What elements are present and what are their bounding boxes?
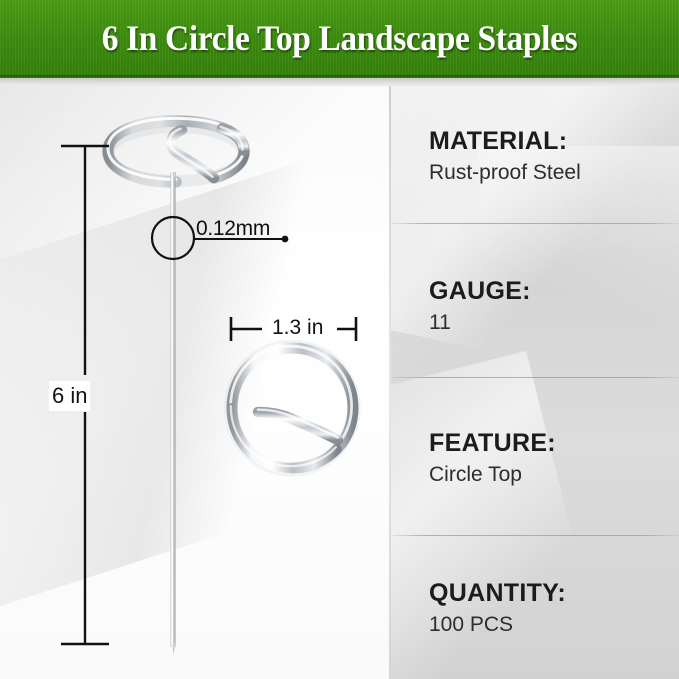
dimension-label-length: 6 in (49, 381, 90, 411)
spec-label: FEATURE: (429, 430, 669, 456)
spec-label: MATERIAL: (429, 128, 669, 154)
spec-row-feature: FEATURE: Circle Top (429, 430, 669, 486)
spec-value: 100 PCS (429, 613, 669, 636)
spec-value: Circle Top (429, 463, 669, 486)
spec-row-gauge: GAUGE: 11 (429, 278, 669, 334)
panel-sheen-right (479, 146, 679, 406)
background-streak (0, 134, 389, 609)
spec-value: Rust-proof Steel (429, 161, 669, 184)
spec-label: QUANTITY: (429, 580, 669, 606)
spec-panel: MATERIAL: Rust-proof Steel GAUGE: 11 FEA… (391, 86, 679, 679)
spec-label: GAUGE: (429, 278, 669, 304)
spec-divider-3 (391, 535, 679, 536)
header-banner: 6 In Circle Top Landscape Staples (0, 0, 679, 78)
dimension-label-wire-thickness: 0.12mm (196, 217, 270, 241)
spec-divider-2 (391, 377, 679, 378)
spec-divider-1 (391, 223, 679, 224)
page-title: 6 In Circle Top Landscape Staples (24, 17, 655, 59)
dimension-label-circle-width: 1.3 in (268, 316, 327, 340)
spec-value: 11 (429, 311, 669, 334)
spec-row-quantity: QUANTITY: 100 PCS (429, 580, 669, 636)
product-infographic: 6 In Circle Top Landscape Staples (0, 0, 679, 679)
spec-row-material: MATERIAL: Rust-proof Steel (429, 128, 669, 184)
